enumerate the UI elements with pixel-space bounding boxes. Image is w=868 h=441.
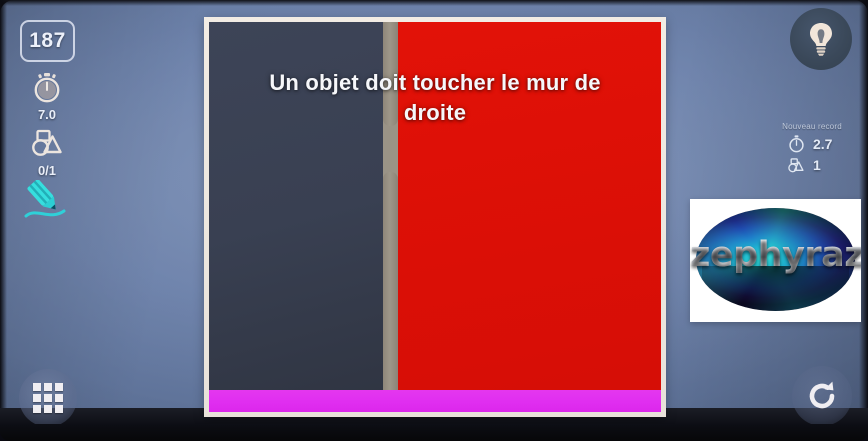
wall-segment-bottom (383, 172, 398, 412)
new-record-panel: Nouveau record 2.7 (762, 122, 862, 174)
left-hud-column: 187 7.0 (0, 0, 110, 424)
objects-stat: 0/1 (18, 128, 76, 178)
grid-menu-icon[interactable] (19, 369, 77, 424)
level-badge: 187 (20, 20, 75, 62)
record-time-row: 2.7 (762, 135, 862, 153)
record-objects-value: 1 (813, 157, 837, 173)
shapes-icon (18, 128, 76, 162)
device-screen-panel: 187 7.0 (0, 0, 868, 424)
game-board-frame: Un objet doit toucher le mur de droite (204, 17, 666, 417)
game-screenshot: 187 7.0 (0, 0, 868, 441)
zephyraz-watermark: zephyraz (690, 199, 861, 322)
stopwatch-icon (787, 135, 805, 153)
objects-value: 0/1 (18, 163, 76, 178)
record-time-value: 2.7 (813, 136, 837, 152)
timer-value: 7.0 (18, 107, 76, 122)
new-record-label: Nouveau record (762, 122, 862, 131)
stopwatch-icon (18, 72, 76, 106)
refresh-icon[interactable] (792, 366, 852, 424)
timer-stat: 7.0 (18, 72, 76, 122)
grid-menu-cells (33, 383, 63, 413)
game-board[interactable]: Un objet doit toucher le mur de droite (209, 22, 661, 412)
objective-text: Un objet doit toucher le mur de droite (209, 68, 661, 127)
record-objects-row: 1 (762, 156, 862, 174)
goal-bar (209, 390, 661, 412)
pencil-icon[interactable] (20, 180, 72, 222)
logo-text: zephyraz (690, 235, 861, 275)
lightbulb-icon[interactable] (790, 8, 852, 70)
device-bezel-top (0, 0, 868, 6)
shapes-icon (787, 156, 805, 174)
